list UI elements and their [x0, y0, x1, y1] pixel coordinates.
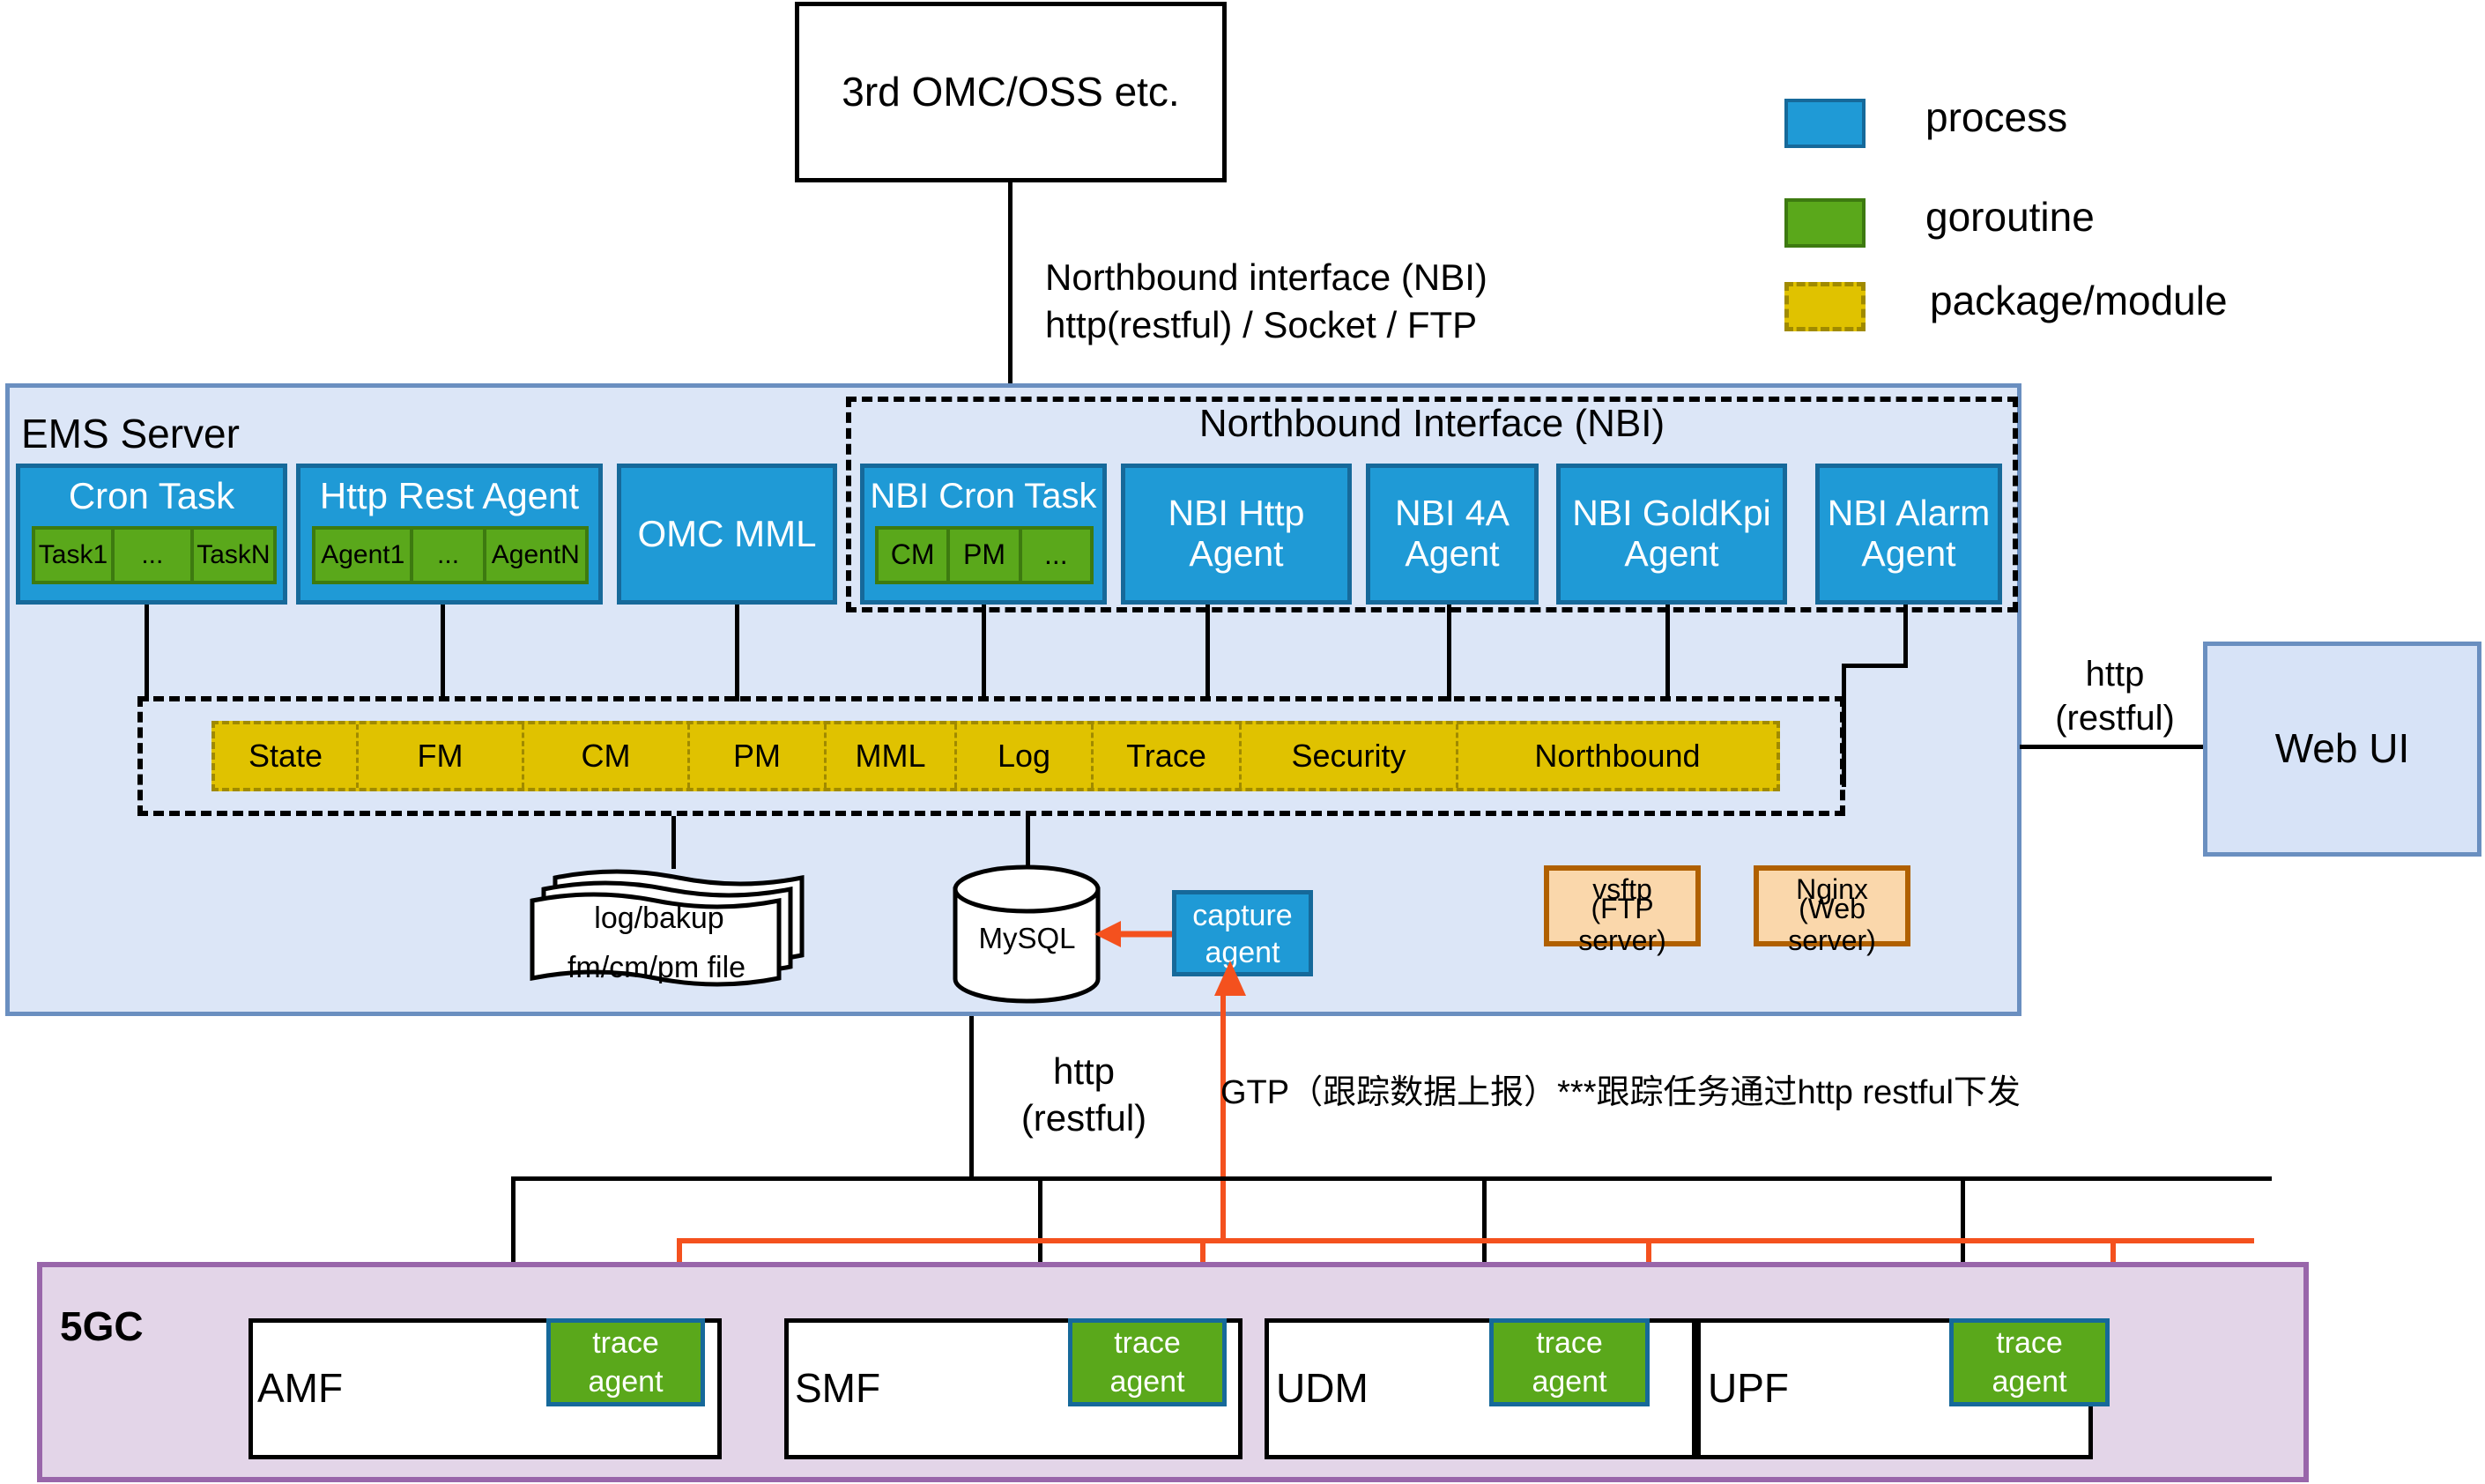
- legend-goroutine-label: goroutine: [1925, 193, 2095, 241]
- process-nbi-goldkpi-agent[interactable]: NBI GoldKpi Agent: [1556, 464, 1787, 605]
- process-nbi-alarm-agent-label: NBI Alarm Agent: [1820, 493, 1998, 575]
- trace-agent-upf-line2: agent: [1954, 1362, 2105, 1402]
- connector-nbi-alarm-agent-jog: [1842, 664, 1908, 668]
- webui-link-line: [2020, 745, 2203, 749]
- webui-link-label-line1: http: [2086, 652, 2145, 696]
- southbound-http-label-line2: (restful): [1021, 1095, 1146, 1142]
- connector-nbi-http-agent: [1205, 605, 1210, 701]
- core-5gc-title: 5GC: [60, 1302, 144, 1350]
- process-nbi-goldkpi-agent-label: NBI GoldKpi Agent: [1561, 493, 1783, 575]
- server-nginx-line2: (Web server): [1759, 906, 1905, 945]
- southbound-http-label: http (restful): [996, 1049, 1172, 1142]
- module-northbound[interactable]: Northbound: [1458, 724, 1777, 788]
- nbi-link-label-line1: Northbound interface (NBI): [1045, 254, 1680, 301]
- capture-agent-line1: capture: [1176, 896, 1309, 935]
- trace-agent-upf-line1: trace: [1954, 1323, 2105, 1363]
- module-cm[interactable]: CM: [524, 724, 690, 788]
- process-cron-task[interactable]: Cron Task Task1 ... TaskN: [16, 464, 287, 605]
- connector-http-rest-agent: [441, 605, 445, 701]
- trace-agent-smf-line1: trace: [1072, 1323, 1222, 1363]
- module-log[interactable]: Log: [957, 724, 1094, 788]
- server-vsftp-line2: (FTP server): [1549, 906, 1695, 945]
- nf-upf-label: UPF: [1708, 1364, 1789, 1412]
- gtp-note-text: GTP（跟踪数据上报）***跟踪任务通过http restful下发: [1220, 1074, 2021, 1111]
- process-omc-mml-label: OMC MML: [638, 513, 817, 554]
- legend-package-label: package/module: [1930, 277, 2228, 324]
- process-nbi-alarm-agent[interactable]: NBI Alarm Agent: [1815, 464, 2002, 605]
- module-security[interactable]: Security: [1242, 724, 1458, 788]
- gtp-trunk-line: [1220, 994, 1226, 1241]
- module-pm[interactable]: PM: [690, 724, 827, 788]
- nbi-link-line: [1008, 182, 1013, 392]
- black-distribution-bus: [511, 1176, 2272, 1181]
- trace-agent-smf-line2: agent: [1072, 1362, 1222, 1402]
- process-http-rest-agent[interactable]: Http Rest Agent Agent1 ... AgentN: [296, 464, 603, 605]
- connector-nbi-4a-agent: [1447, 605, 1451, 701]
- module-mml[interactable]: MML: [827, 724, 957, 788]
- goroutine-pm[interactable]: PM: [950, 526, 1021, 584]
- goroutine-agentn[interactable]: AgentN: [486, 526, 589, 584]
- trace-agent-smf[interactable]: trace agent: [1068, 1318, 1227, 1406]
- process-nbi-4a-agent-label: NBI 4A Agent: [1370, 493, 1534, 575]
- goroutine-nbi-ellipsis: ...: [1022, 526, 1094, 584]
- nbi-group-title: Northbound Interface (NBI): [881, 401, 1983, 447]
- server-nginx[interactable]: Nginx (Web server): [1754, 865, 1910, 946]
- process-nbi-http-agent-label: NBI Http Agent: [1125, 493, 1347, 575]
- connector-nbi-goldkpi-agent: [1665, 605, 1670, 701]
- process-nbi-http-agent[interactable]: NBI Http Agent: [1121, 464, 1352, 605]
- nbi-link-label-line2: http(restful) / Socket / FTP: [1045, 301, 1680, 349]
- ems-server-title: EMS Server: [21, 410, 240, 457]
- module-trace[interactable]: Trace: [1094, 724, 1242, 788]
- southbound-http-label-line1: http: [1053, 1049, 1115, 1095]
- southbound-http-line: [969, 1016, 974, 1179]
- file-store-line1: log/bakup: [536, 901, 783, 936]
- goroutine-task1[interactable]: Task1: [32, 526, 115, 584]
- goroutine-task-ellipsis: ...: [115, 526, 194, 584]
- file-store-line2: fm/cm/pm file: [529, 950, 784, 985]
- goroutine-cm[interactable]: CM: [875, 526, 950, 584]
- goroutine-agent1[interactable]: Agent1: [312, 526, 413, 584]
- webui-link-label: http (restful): [2027, 652, 2203, 740]
- trace-agent-amf-line2: agent: [551, 1362, 701, 1402]
- legend-process-label: process: [1925, 93, 2067, 141]
- legend-goroutine-swatch: [1784, 198, 1866, 248]
- process-nbi-4a-agent[interactable]: NBI 4A Agent: [1366, 464, 1539, 605]
- gtp-to-capture-arrow-head: [1211, 961, 1250, 1006]
- goroutine-group-http-rest-agent: Agent1 ... AgentN: [312, 526, 589, 584]
- capture-to-mysql-arrow: [1091, 916, 1176, 952]
- process-cron-task-label: Cron Task: [20, 473, 283, 519]
- nf-smf-label: SMF: [795, 1364, 880, 1412]
- gtp-note-label: GTP（跟踪数据上报）***跟踪任务通过http restful下发: [1220, 1065, 2278, 1113]
- mysql-label: MySQL: [950, 923, 1104, 954]
- module-fm[interactable]: FM: [359, 724, 524, 788]
- connector-nbi-cron-task: [982, 605, 986, 701]
- process-nbi-cron-task-label: NBI Cron Task: [864, 473, 1102, 519]
- architecture-diagram: 3rd OMC/OSS etc. Northbound interface (N…: [0, 0, 2485, 1484]
- trace-agent-amf-line1: trace: [551, 1323, 701, 1363]
- connector-omc-mml: [735, 605, 739, 701]
- module-state[interactable]: State: [215, 724, 359, 788]
- legend-package-swatch: [1784, 282, 1866, 331]
- trace-agent-udm[interactable]: trace agent: [1489, 1318, 1650, 1406]
- connector-module-to-mysql: [1026, 816, 1030, 867]
- nf-amf-label: AMF: [257, 1364, 343, 1412]
- process-nbi-cron-task[interactable]: NBI Cron Task CM PM ...: [860, 464, 1107, 605]
- trace-agent-upf[interactable]: trace agent: [1949, 1318, 2110, 1406]
- webui-link-label-line2: (restful): [2055, 696, 2175, 740]
- web-ui-label: Web UI: [2275, 726, 2410, 772]
- legend-process-swatch: [1784, 99, 1866, 148]
- web-ui-box[interactable]: Web UI: [2203, 642, 2481, 857]
- orange-distribution-bus: [677, 1238, 2254, 1243]
- connector-cron-task: [145, 605, 149, 701]
- goroutine-taskn[interactable]: TaskN: [194, 526, 277, 584]
- nbi-link-label: Northbound interface (NBI) http(restful)…: [1045, 254, 1680, 349]
- connector-nbi-alarm-agent-upper: [1903, 605, 1908, 668]
- module-bar: State FM CM PM MML Log Trace Security No…: [211, 721, 1780, 791]
- process-http-rest-agent-label: Http Rest Agent: [300, 473, 598, 519]
- goroutine-agent-ellipsis: ...: [413, 526, 486, 584]
- nf-udm-label: UDM: [1276, 1364, 1369, 1412]
- server-vsftp[interactable]: vsftp (FTP server): [1544, 865, 1701, 946]
- goroutine-group-cron-task: Task1 ... TaskN: [32, 526, 277, 584]
- third-party-omc-oss-box: 3rd OMC/OSS etc.: [795, 2, 1227, 182]
- trace-agent-udm-line2: agent: [1494, 1362, 1645, 1402]
- goroutine-group-nbi-cron-task: CM PM ...: [875, 526, 1094, 584]
- trace-agent-udm-line1: trace: [1494, 1323, 1645, 1363]
- legend: process goroutine package/module: [1784, 86, 2401, 342]
- third-party-omc-oss-label: 3rd OMC/OSS etc.: [842, 70, 1179, 115]
- process-omc-mml[interactable]: OMC MML: [617, 464, 837, 605]
- trace-agent-amf[interactable]: trace agent: [546, 1318, 705, 1406]
